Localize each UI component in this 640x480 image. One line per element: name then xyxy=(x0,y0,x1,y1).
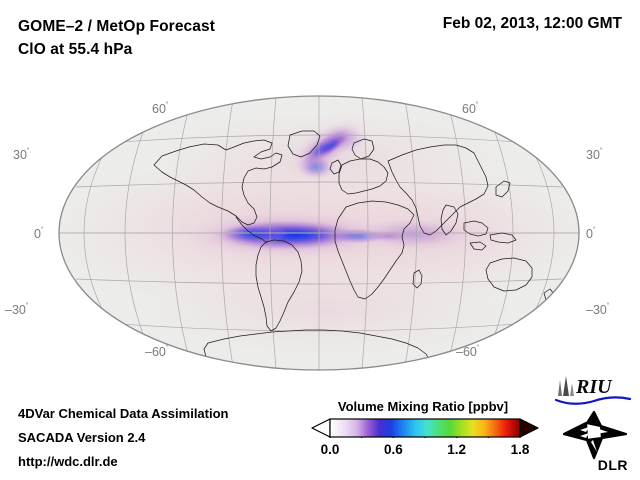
dlr-wordmark: DLR xyxy=(598,457,628,473)
page-subtitle: ClO at 55.4 hPa xyxy=(18,38,215,61)
lat-label-minus60-botright: –60˚ xyxy=(456,344,480,359)
riu-wave-icon xyxy=(556,397,630,403)
lat-label-minus30-right: –30˚ xyxy=(586,302,610,317)
colorbar-tick-label: 0.0 xyxy=(321,442,340,457)
colorbar-tick-labels: 0.00.61.21.8 xyxy=(310,440,540,458)
riu-tower-icon xyxy=(558,376,574,396)
lat-label-60-topleft: 60˚ xyxy=(152,101,169,116)
map-canvas xyxy=(58,95,580,371)
lat-label-30-right: 30˚ xyxy=(586,147,603,162)
lat-label-minus60-botleft: –60˚ xyxy=(145,344,169,359)
header-timestamp: Feb 02, 2013, 12:00 GMT xyxy=(443,15,622,33)
colorbar-title: Volume Mixing Ratio [ppbv] xyxy=(312,399,534,414)
colorbar-graphic xyxy=(310,418,540,438)
footer-version-label: SACADA Version 2.4 xyxy=(18,426,229,450)
colorbar-block: Volume Mixing Ratio [ppbv] 0.00.61.21.8 xyxy=(310,399,540,458)
lat-label-0-left: 0˚ xyxy=(34,226,44,241)
colorbar-tick-label: 1.2 xyxy=(447,442,466,457)
page-title: GOME–2 / MetOp Forecast xyxy=(18,15,215,38)
colorbar-svg[interactable] xyxy=(310,418,540,438)
lat-label-minus30-left: –30˚ xyxy=(5,302,29,317)
riu-wordmark: RIU xyxy=(575,376,613,398)
colorbar-tick-label: 0.6 xyxy=(384,442,403,457)
footer-method-label: 4DVar Chemical Data Assimilation xyxy=(18,402,229,426)
footer-text-block: 4DVar Chemical Data Assimilation SACADA … xyxy=(18,402,229,474)
lat-label-0-right: 0˚ xyxy=(586,226,596,241)
riu-logo-svg: RIU xyxy=(554,374,632,406)
footer-url-link[interactable]: http://wdc.dlr.de xyxy=(18,450,229,474)
colorbar-extend-high-arrow xyxy=(520,419,538,437)
colorbar-tick-label: 1.8 xyxy=(511,442,530,457)
header-title-block: GOME–2 / MetOp Forecast ClO at 55.4 hPa xyxy=(18,15,215,61)
colorbar-bar[interactable] xyxy=(330,419,520,437)
lat-label-30-left: 30˚ xyxy=(13,147,30,162)
world-map-panel: 30˚ 0˚ –30˚ 30˚ 0˚ –30˚ 60˚ 60˚ –60˚ –60… xyxy=(58,95,580,371)
dlr-logo: DLR xyxy=(556,410,630,472)
riu-logo: RIU xyxy=(554,374,632,406)
dlr-emblem-icon xyxy=(556,410,630,460)
lat-label-60-topright: 60˚ xyxy=(462,101,479,116)
colorbar-extend-low-arrow xyxy=(312,419,330,437)
